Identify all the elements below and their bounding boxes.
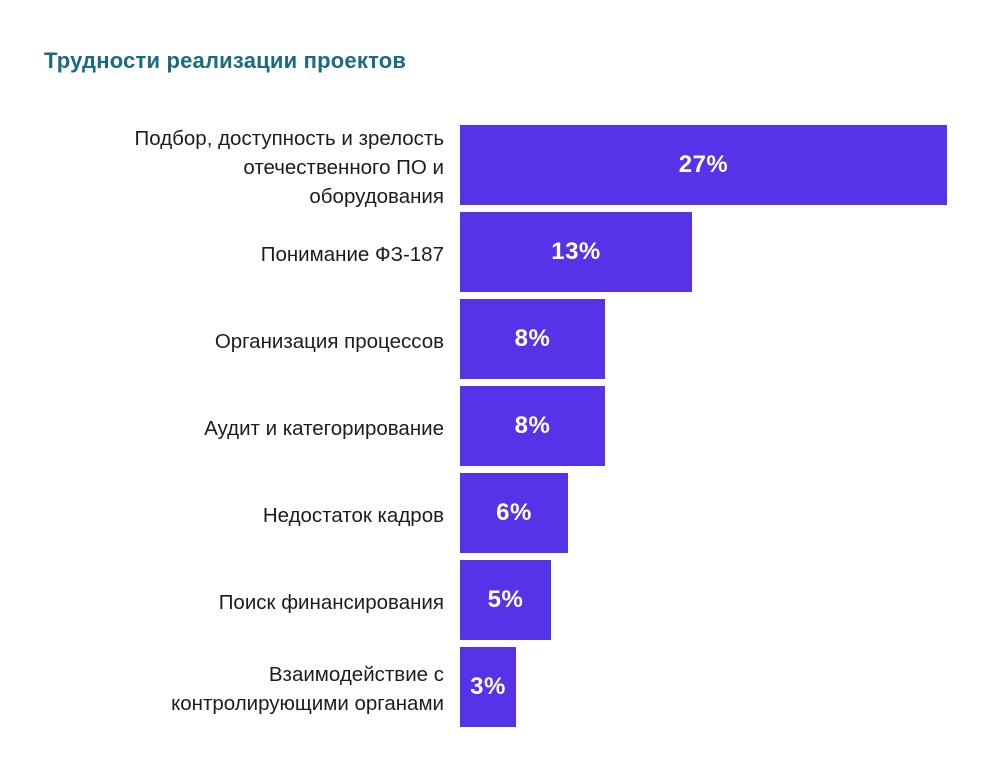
category-label: Аудит и категорирование: [24, 414, 444, 443]
bar-segment[interactable]: 6%: [460, 473, 568, 553]
bar-segment[interactable]: 3%: [460, 647, 516, 727]
bar-chart: Трудности реализации проектов Подбор, до…: [0, 0, 990, 780]
category-label: Организация процессов: [24, 327, 444, 356]
bar-value-label: 6%: [496, 501, 532, 525]
bar-row: Организация процессов 8%: [0, 292, 990, 379]
bar-segment[interactable]: 27%: [460, 125, 947, 205]
bar-value-label: 8%: [515, 327, 551, 351]
bar-row: Поиск финансирования 5%: [0, 553, 990, 640]
bar-row: Недостаток кадров 6%: [0, 466, 990, 553]
bar-row: Взаимодействие с контролирующими органам…: [0, 640, 990, 727]
category-label: Взаимодействие с контролирующими органам…: [24, 660, 444, 718]
bar-value-label: 8%: [515, 414, 551, 438]
chart-title: Трудности реализации проектов: [44, 48, 406, 74]
bar-segment[interactable]: 8%: [460, 299, 605, 379]
plot-area: Подбор, доступность и зрелость отечестве…: [0, 118, 990, 708]
bar-row: Подбор, доступность и зрелость отечестве…: [0, 118, 990, 205]
bar-row: Аудит и категорирование 8%: [0, 379, 990, 466]
bar-value-label: 13%: [551, 240, 601, 264]
bar-segment[interactable]: 5%: [460, 560, 551, 640]
bar-row: Понимание ФЗ-187 13%: [0, 205, 990, 292]
category-label: Недостаток кадров: [24, 501, 444, 530]
bar-value-label: 5%: [488, 588, 524, 612]
bar-value-label: 27%: [679, 153, 729, 177]
bar-segment[interactable]: 8%: [460, 386, 605, 466]
category-label: Поиск финансирования: [24, 588, 444, 617]
bar-segment[interactable]: 13%: [460, 212, 692, 292]
category-label: Подбор, доступность и зрелость отечестве…: [24, 124, 444, 211]
bar-value-label: 3%: [470, 675, 506, 699]
category-label: Понимание ФЗ-187: [24, 240, 444, 269]
